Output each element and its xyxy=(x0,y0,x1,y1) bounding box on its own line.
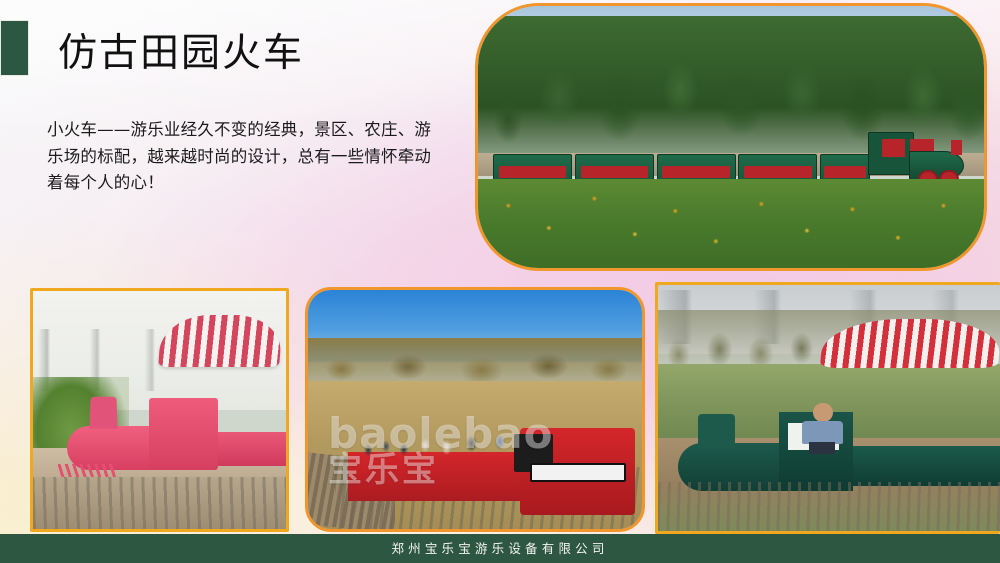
locomotive xyxy=(520,428,635,514)
slide-canvas: 仿古田园火车 小火车——游乐业经久不变的经典，景区、农庄、游乐场的标配，越来越时… xyxy=(0,0,1000,563)
photo-bottom-right-image xyxy=(658,285,1000,531)
body-paragraph: 小火车——游乐业经久不变的经典，景区、农庄、游乐场的标配，越来越时尚的设计，总有… xyxy=(47,117,447,197)
footer-company-name: 郑州宝乐宝游乐设备有限公司 xyxy=(0,538,1000,557)
page-title: 仿古田园火车 xyxy=(58,33,304,76)
railway-track xyxy=(33,477,286,529)
photo-top-right[interactable] xyxy=(475,3,987,271)
railway-track xyxy=(658,482,1000,531)
photo-top-right-image xyxy=(478,6,984,268)
red-train xyxy=(348,414,635,514)
photo-bottom-middle[interactable]: baolebao 宝乐宝 xyxy=(305,287,645,532)
photo-bottom-middle-image: baolebao 宝乐宝 xyxy=(308,290,642,529)
passengers xyxy=(354,422,532,468)
flower-field xyxy=(478,179,984,268)
title-accent-square xyxy=(0,20,29,76)
photo-bottom-right[interactable] xyxy=(655,282,1000,534)
train-driver xyxy=(799,403,846,453)
photo-bottom-left-image xyxy=(33,291,286,529)
photo-bottom-left[interactable] xyxy=(30,288,289,532)
